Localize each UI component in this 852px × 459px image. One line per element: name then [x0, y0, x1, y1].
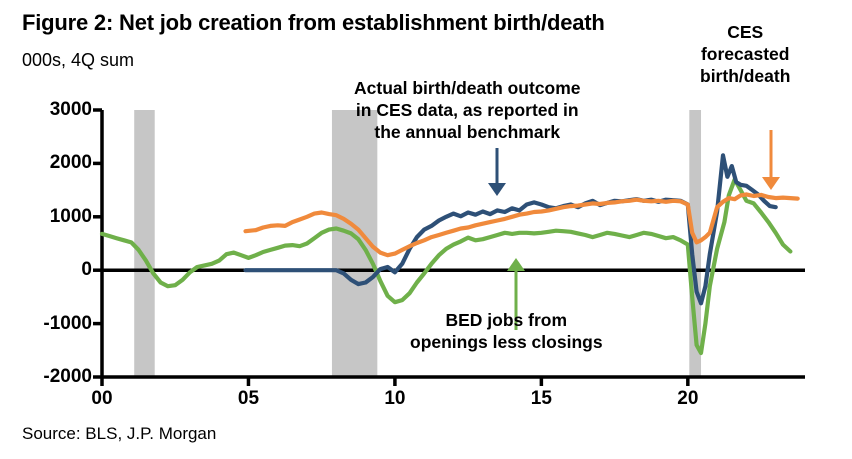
x-axis-label: 15 [531, 388, 552, 410]
y-axis-label: 1000 [6, 206, 92, 228]
annotation-actual-ces: Actual birth/death outcome in CES data, … [354, 78, 581, 144]
y-axis-label: -2000 [6, 366, 92, 388]
y-axis-label: 2000 [6, 152, 92, 174]
x-axis-label: 10 [384, 388, 405, 410]
source-note: Source: BLS, J.P. Morgan [22, 424, 216, 444]
arrow-actual-ces-head [488, 183, 506, 196]
annotation-ces-forecast: CES forecasted birth/death [700, 22, 790, 88]
figure-root: Figure 2: Net job creation from establis… [0, 0, 852, 459]
x-axis-label: 05 [238, 388, 259, 410]
annotation-bed: BED jobs from openings less closings [410, 310, 603, 354]
y-axis-label: 0 [6, 259, 92, 281]
y-axis-label: -1000 [6, 313, 92, 335]
y-axis-label: 3000 [6, 99, 92, 121]
arrow-ces-forecast-head [762, 177, 780, 190]
x-axis-label: 20 [677, 388, 698, 410]
x-axis-label: 00 [91, 388, 112, 410]
recession-band [134, 110, 155, 377]
arrow-bed-head [507, 258, 525, 271]
